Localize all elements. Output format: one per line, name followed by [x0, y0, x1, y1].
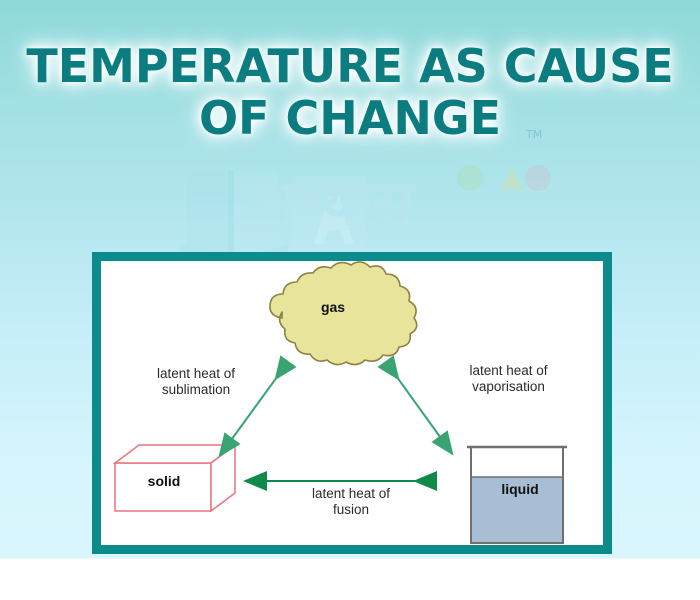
yellow-triangle-icon: [500, 168, 524, 190]
watermark-graphics: [0, 160, 700, 260]
poster-canvas: अभ्यास TEMPERATURE AS CAUSE OF CHANGE TM: [0, 0, 700, 600]
diagram-frame: gas solid liquid latent heat of sublimat…: [92, 252, 612, 554]
transition-label-fusion: latent heat of fusion: [276, 486, 426, 518]
watermark-text: अभ्यास: [250, 172, 413, 234]
trademark-mark: TM: [526, 128, 542, 141]
transition-label-vaporisation-line2: vaporisation: [431, 379, 586, 395]
transition-label-vaporisation-line1: latent heat of: [431, 363, 586, 379]
transition-label-sublimation-line2: sublimation: [121, 382, 271, 398]
pink-circle-icon: [525, 165, 551, 191]
state-label-gas: gas: [303, 299, 363, 315]
watermark: अभ्यास: [0, 160, 700, 260]
watermark-a-block: [292, 176, 366, 254]
transition-label-sublimation-line1: latent heat of: [121, 366, 271, 382]
transition-label-sublimation: latent heat of sublimation: [121, 366, 271, 398]
state-label-liquid: liquid: [485, 481, 555, 497]
title-line-2: OF CHANGE: [0, 92, 700, 144]
title-line-1: TEMPERATURE AS CAUSE: [0, 40, 700, 92]
transition-label-vaporisation: latent heat of vaporisation: [431, 363, 586, 395]
transition-label-fusion-line1: latent heat of: [276, 486, 426, 502]
state-label-solid: solid: [129, 473, 199, 489]
green-circle-icon: [457, 165, 483, 191]
transition-label-fusion-line2: fusion: [276, 502, 426, 518]
open-book-icon: [180, 170, 288, 260]
page-title: TEMPERATURE AS CAUSE OF CHANGE: [0, 40, 700, 144]
